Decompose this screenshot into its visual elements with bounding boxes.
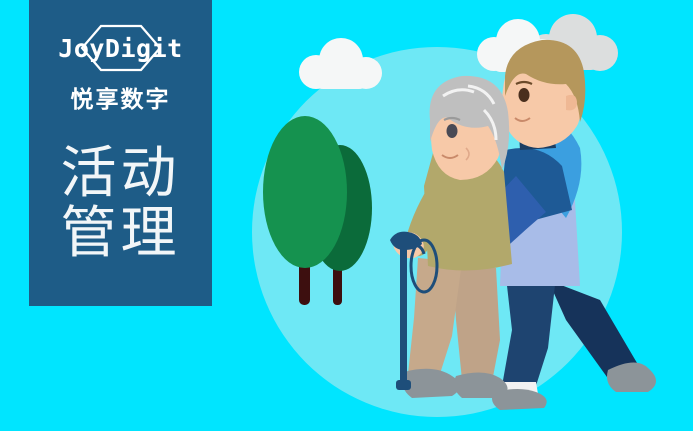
title-panel: JoyDigit 悦享数字 活动 管理 (29, 0, 212, 306)
poster-canvas: JoyDigit 悦享数字 活动 管理 (0, 0, 693, 431)
cane-tip (396, 380, 411, 390)
page-title-line-2: 管理 (61, 204, 181, 264)
brand-logo: JoyDigit 悦享数字 (46, 22, 196, 114)
page-title: 活动 管理 (61, 144, 181, 265)
man-eye (519, 88, 530, 102)
woman-eye (447, 124, 458, 138)
logo-subtitle-cn: 悦享数字 (71, 80, 171, 114)
cane-shaft (400, 246, 407, 386)
page-title-line-1: 活动 (61, 144, 181, 204)
logo-wordmark: JoyDigit (46, 22, 196, 74)
logo-hexagon-icon: JoyDigit (46, 22, 196, 74)
